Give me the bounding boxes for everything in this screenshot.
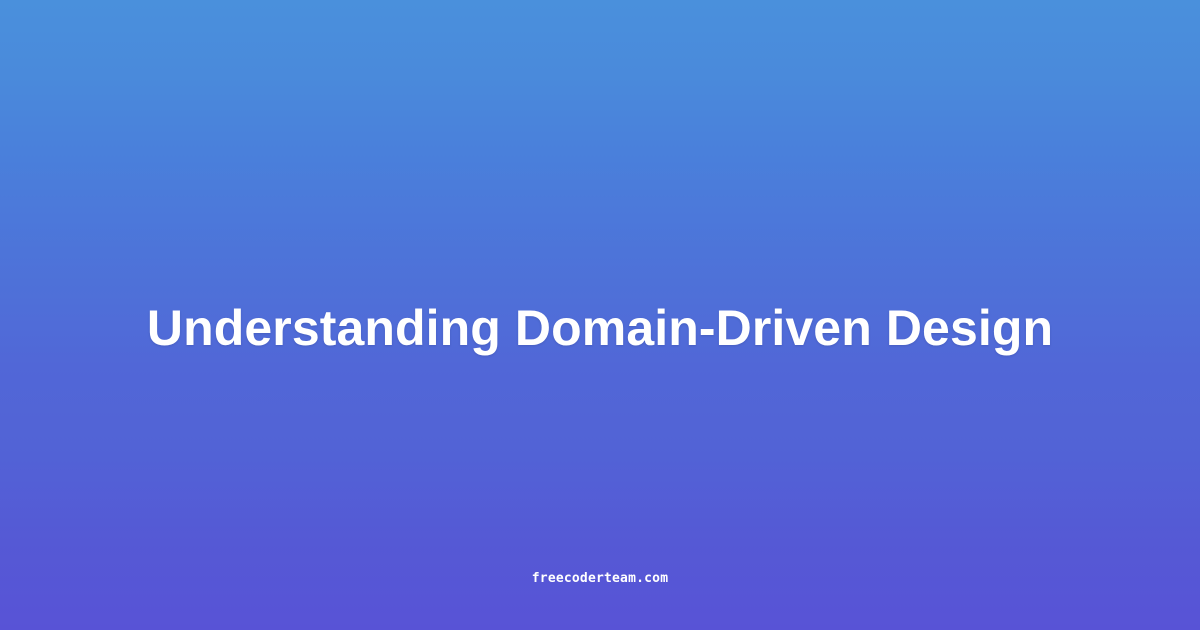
hero-title-block: Understanding Domain-Driven Design [95,298,1105,358]
page-title: Understanding Domain-Driven Design [147,298,1053,358]
footer-watermark: freecoderteam.com [0,569,1200,587]
site-domain-label: freecoderteam.com [532,571,668,586]
og-card: Understanding Domain-Driven Design freec… [0,0,1200,630]
